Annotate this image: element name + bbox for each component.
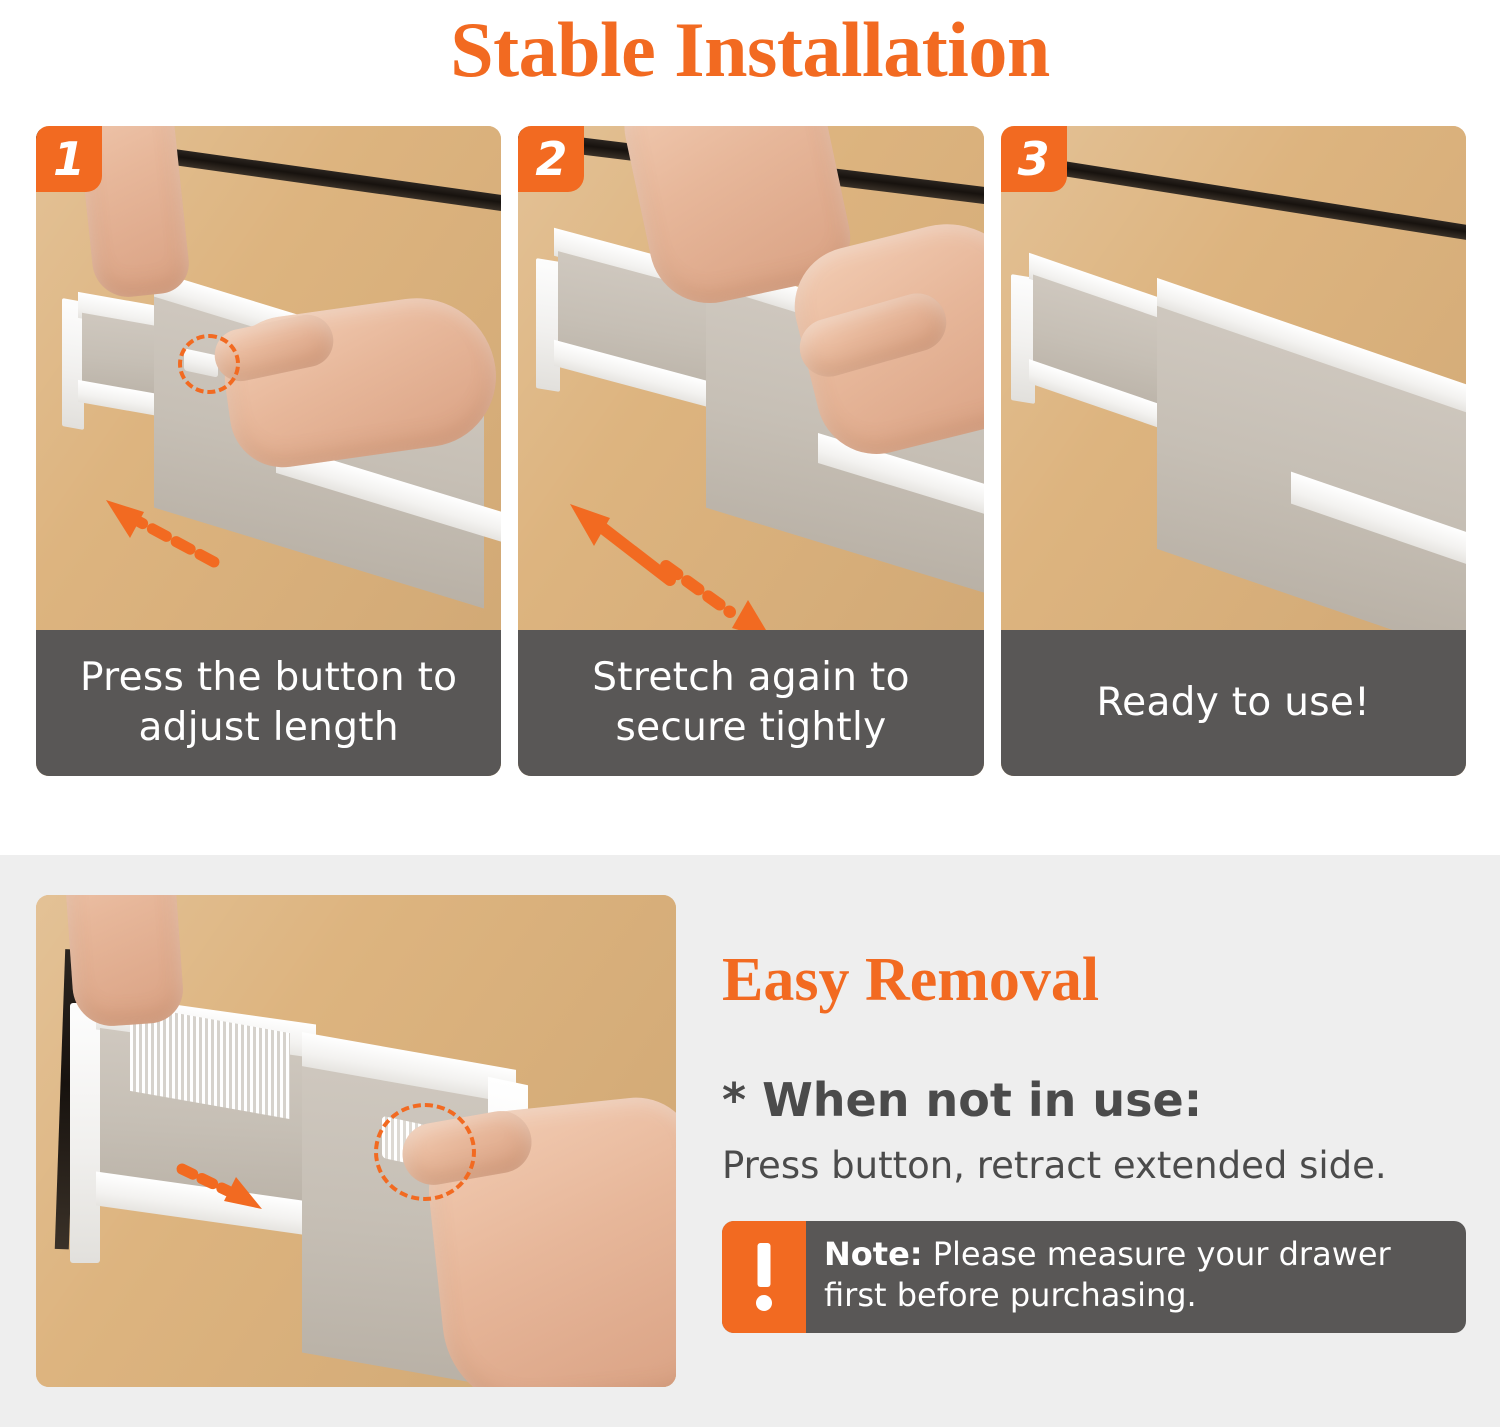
dashed-highlight-circle [374,1103,476,1201]
step-badge-1: 1 [36,126,102,192]
note-text: Note: Please measure your drawer first b… [806,1221,1466,1333]
easy-removal-section: Easy Removal * When not in use: Press bu… [0,855,1500,1427]
dashed-highlight-circle [178,334,240,394]
divider-end-cap [70,1003,100,1263]
divider-end-cap [536,258,560,392]
exclamation-bar [758,1243,771,1287]
page-title: Stable Installation [0,2,1500,98]
step-badge-3: 3 [1001,126,1067,192]
right-arrow-icon [176,1157,272,1219]
step-panel-1[interactable]: 1 Press the button to adjust length [36,126,501,776]
removal-photo[interactable] [36,895,676,1387]
when-not-in-use-label: * When not in use: [722,1072,1202,1128]
press-button-instruction: Press button, retract extended side. [722,1142,1387,1190]
step-caption-1: Press the button to adjust length [36,630,501,776]
removal-title: Easy Removal [722,943,1099,1017]
step-caption-2: Stretch again to secure tightly [518,630,983,776]
step-caption-3: Ready to use! [1001,630,1466,776]
step-panel-2[interactable]: 2 Stretch again to secure tightly [518,126,983,776]
step-badge-2: 2 [518,126,584,192]
installation-steps-row: 1 Press the button to adjust length [36,126,1466,776]
left-arrow-icon [96,496,226,576]
hand-holding-left [61,895,185,1029]
removal-text-column: Easy Removal * When not in use: Press bu… [722,895,1466,1387]
stable-installation-section: Stable Installation [0,0,1500,855]
note-box: Note: Please measure your drawer first b… [722,1221,1466,1333]
exclamation-dot [756,1295,772,1311]
note-label: Note: [824,1235,923,1273]
step-panel-3[interactable]: 3 Ready to use! [1001,126,1466,776]
divider-end-cap [1011,274,1035,404]
exclamation-icon [722,1221,806,1333]
